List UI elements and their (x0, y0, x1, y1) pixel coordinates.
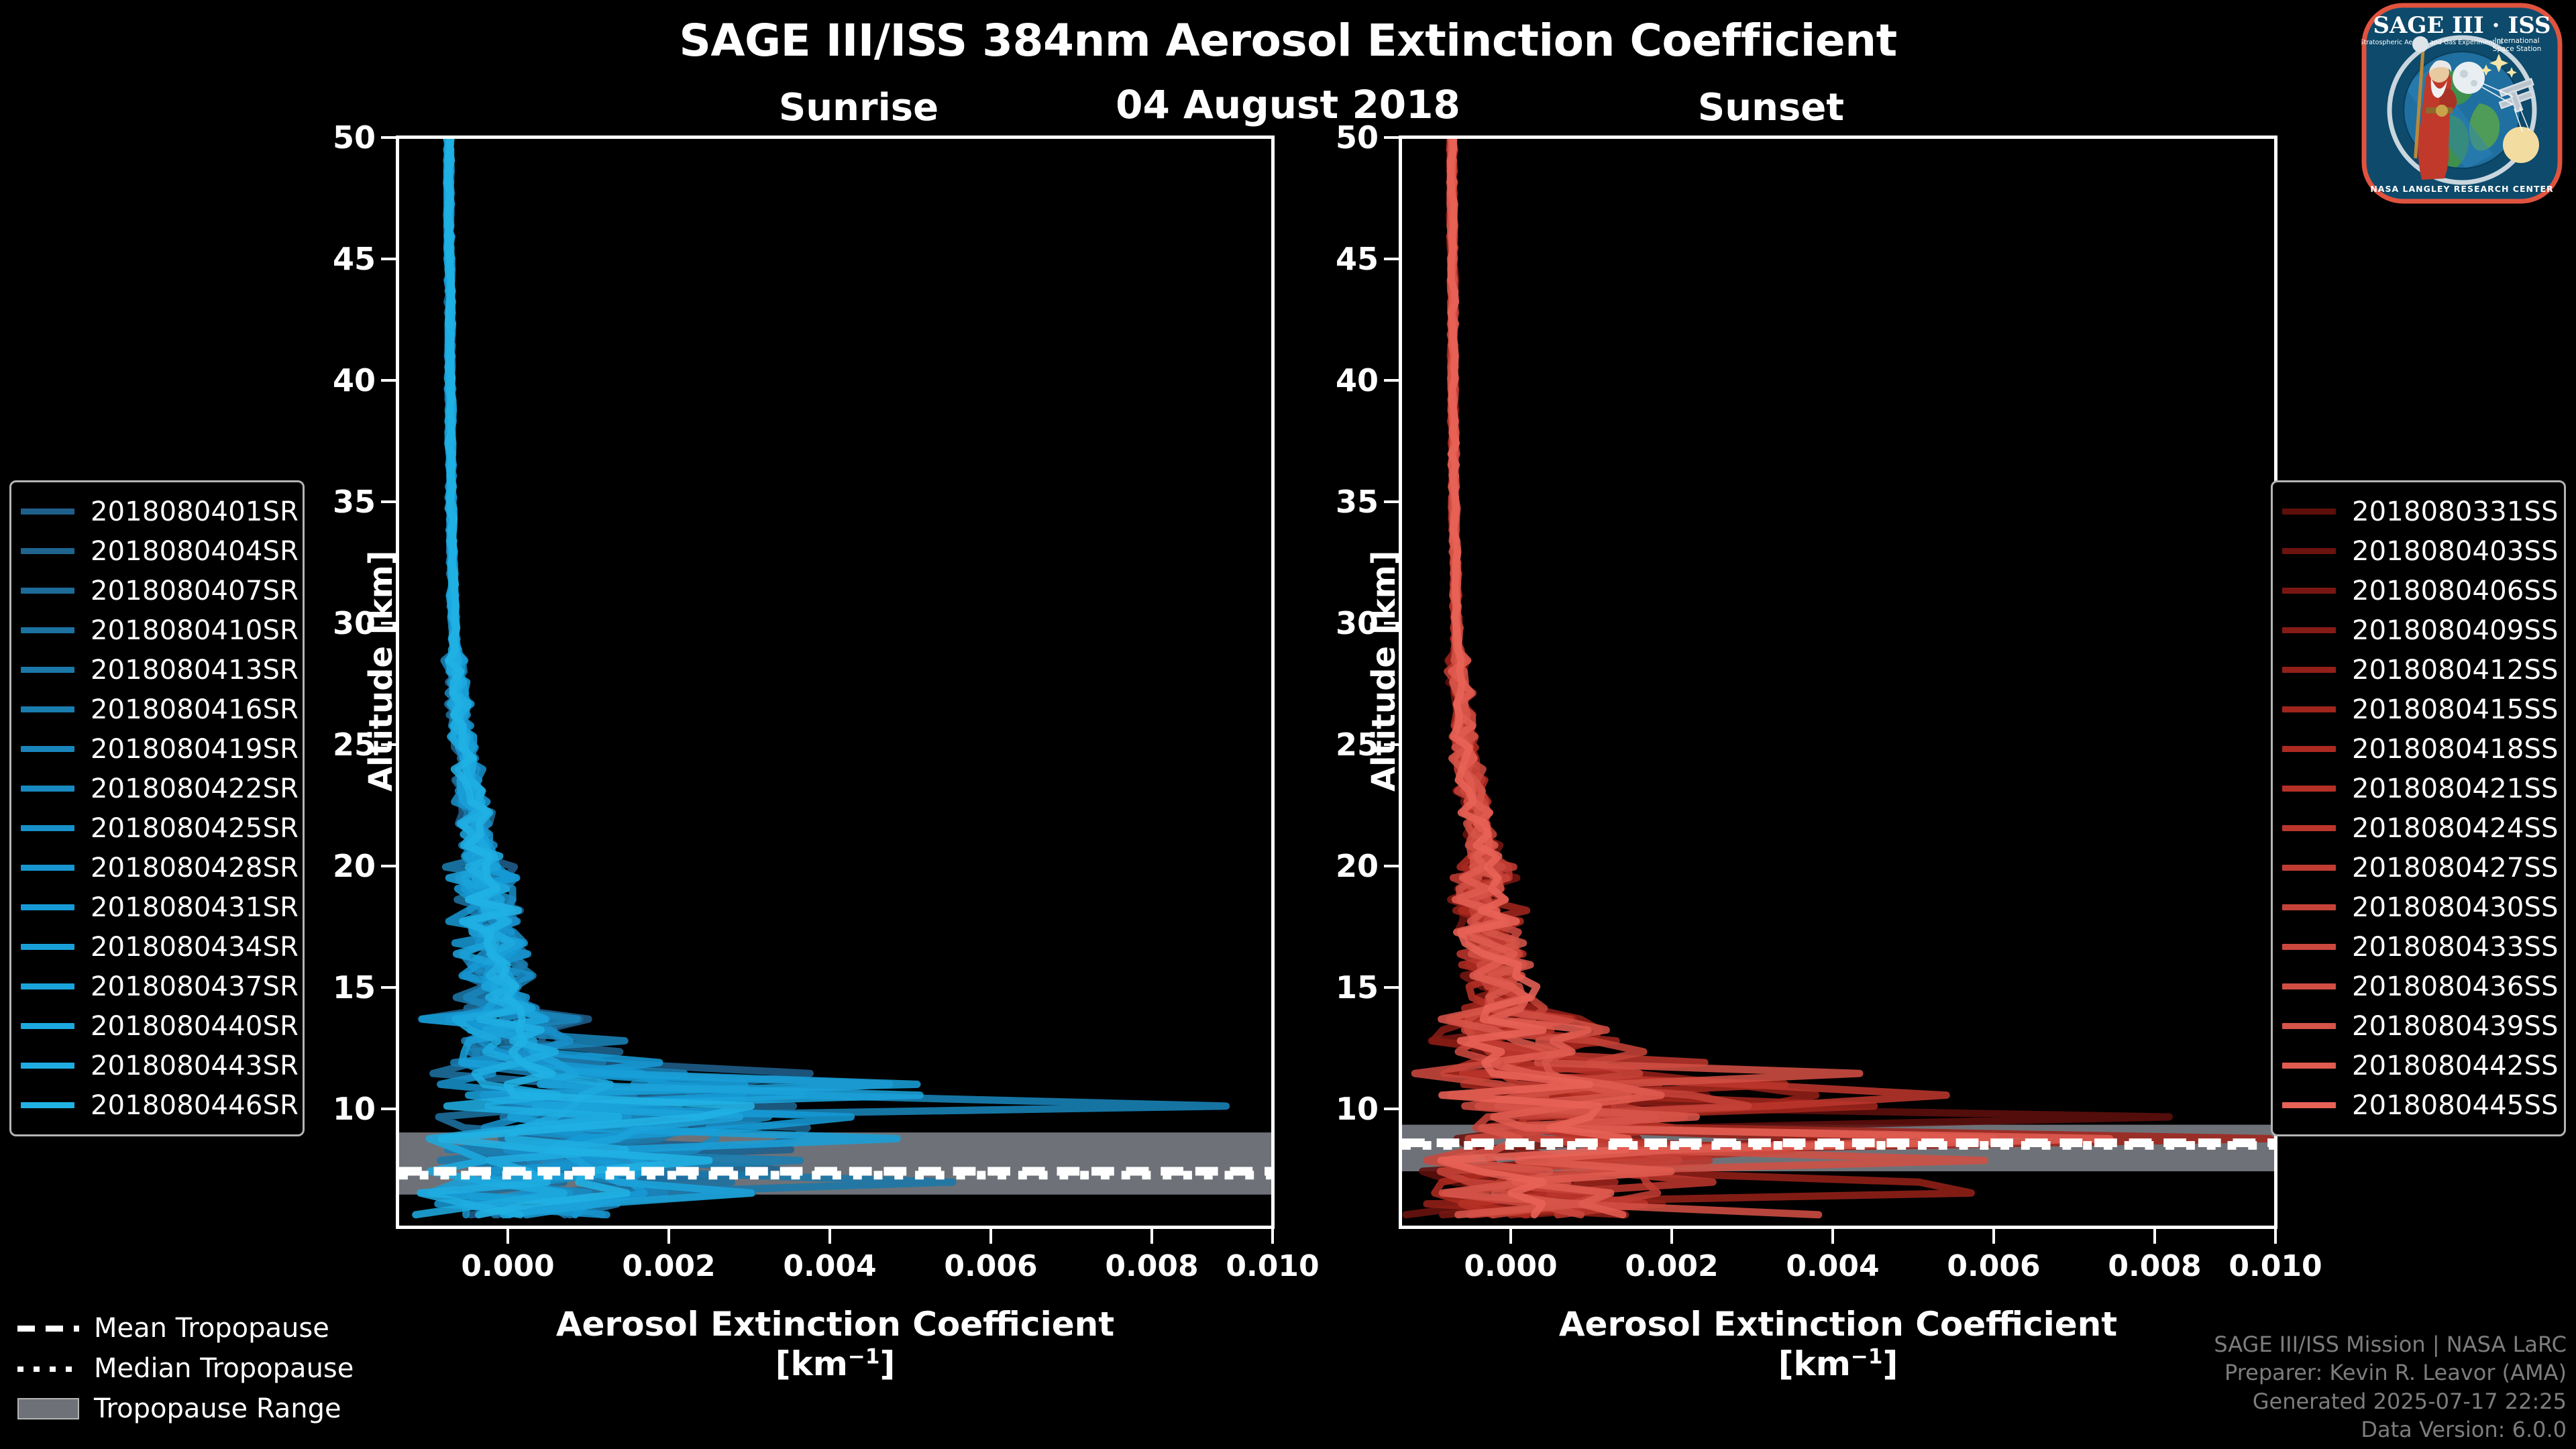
sunset-xaxis-title: Aerosol Extinction Coefficient [km−1] (1399, 1305, 2277, 1384)
sunrise-legend-color-swatch (21, 706, 74, 712)
sunrise-legend-label: 2018080413SR (91, 655, 299, 686)
sunset-legend-item[interactable]: 2018080331SS (2282, 492, 2553, 531)
sunrise-legend-color-swatch (21, 746, 74, 752)
sunset-legend-label: 2018080409SS (2352, 615, 2559, 646)
sunrise-legend-label: 2018080422SR (91, 773, 299, 804)
sunrise-xaxis-unit: [km−1] (396, 1344, 1275, 1384)
sage-iii-iss-logo-icon: SAGE III · ISS Stratospheric Aerosol and… (2361, 3, 2563, 204)
sunset-legend-label: 2018080331SS (2352, 496, 2559, 527)
sunrise-legend-item[interactable]: 2018080428SR (21, 848, 292, 888)
sunrise-legend-color-swatch (21, 865, 74, 871)
sunset-xtick-mark (1509, 1229, 1512, 1244)
sunset-legend-item[interactable]: 2018080409SS (2282, 610, 2553, 650)
sunset-xtick-mark (1831, 1229, 1834, 1244)
sunset-legend-color-swatch (2282, 588, 2336, 594)
logo-sun-icon (2503, 127, 2539, 163)
logo-iss-subtext-2: Space Station (2493, 45, 2542, 53)
sunrise-legend-item[interactable]: 2018080440SR (21, 1006, 292, 1046)
sunset-ytick-50: 50 (1291, 119, 1379, 156)
sunset-legend-color-swatch (2282, 508, 2336, 515)
sunset-ytick-mark (1384, 136, 1399, 139)
sunset-ytick-mark (1384, 865, 1399, 867)
sunrise-legend-color-swatch (21, 1063, 74, 1069)
sunrise-legend-color-swatch (21, 627, 74, 633)
sunrise-legend-label: 2018080431SR (91, 892, 299, 923)
sunrise-legend-item[interactable]: 2018080413SR (21, 650, 292, 690)
sunset-legend-item[interactable]: 2018080442SS (2282, 1046, 2553, 1085)
sunset-legend-color-swatch (2282, 1102, 2336, 1108)
sunrise-ytick-mark (381, 500, 396, 503)
logo-sage-subtext: Stratospheric Aerosol and Gas Experiment… (2361, 39, 2503, 46)
sunset-xtick-mark (1670, 1229, 1673, 1244)
sunset-legend-color-swatch (2282, 1063, 2336, 1069)
sunrise-legend-color-swatch (21, 904, 74, 910)
sunrise-ytick-40: 40 (288, 362, 376, 398)
sunrise-legend-color-swatch (21, 588, 74, 594)
sunset-legend-label: 2018080430SS (2352, 892, 2559, 923)
sunset-ytick-45: 45 (1291, 241, 1379, 277)
sunset-legend-item[interactable]: 2018080436SS (2282, 967, 2553, 1006)
sunset-legend-label: 2018080415SS (2352, 694, 2559, 725)
sunrise-legend-color-swatch (21, 983, 74, 989)
sunset-legend-color-swatch (2282, 786, 2336, 792)
sunrise-ytick-mark (381, 1108, 396, 1110)
sunrise-plot-svg (399, 139, 1271, 1226)
credits-line-mission: SAGE III/ISS Mission | NASA LaRC (2214, 1330, 2567, 1358)
sunrise-ytick-mark (381, 986, 396, 989)
sunset-legend-label: 2018080406SS (2352, 576, 2559, 606)
page-title: SAGE III/ISS 384nm Aerosol Extinction Co… (0, 15, 2576, 66)
sunrise-legend-item[interactable]: 2018080416SR (21, 690, 292, 729)
sunset-xtick-0006: 0.006 (1920, 1249, 2068, 1283)
sunset-legend-item[interactable]: 2018080421SS (2282, 769, 2553, 808)
sunset-ytick-40: 40 (1291, 362, 1379, 398)
sunset-ytick-mark (1384, 379, 1399, 382)
legend-row-mean-tropopause: Mean Tropopause (17, 1308, 354, 1348)
sunset-legend-label: 2018080439SS (2352, 1011, 2559, 1042)
sunrise-legend-label: 2018080428SR (91, 853, 299, 883)
sunrise-legend-label: 2018080407SR (91, 576, 299, 606)
sunrise-legend-item[interactable]: 2018080446SR (21, 1085, 292, 1125)
sunset-legend-color-swatch (2282, 746, 2336, 752)
sunset-legend-label: 2018080424SS (2352, 813, 2559, 844)
sunset-ytick-20: 20 (1291, 848, 1379, 884)
mean-tropopause-dash-icon (17, 1319, 79, 1338)
tropopause-range-patch-icon (17, 1398, 79, 1419)
sunset-legend-item[interactable]: 2018080418SS (2282, 729, 2553, 769)
sunrise-xtick-0002: 0.002 (595, 1249, 743, 1283)
date-subtitle: 04 August 2018 (0, 82, 2576, 127)
sunset-xtick-0002: 0.002 (1598, 1249, 1746, 1283)
sunrise-yaxis-title: Altitude [km] (362, 550, 400, 792)
sunrise-xtick-0006: 0.006 (917, 1249, 1065, 1283)
sunset-legend-color-swatch (2282, 825, 2336, 831)
sunrise-xtick-mark (828, 1229, 831, 1244)
mean-tropopause-label: Mean Tropopause (94, 1313, 329, 1344)
sunset-tropopause-marker-lines (1402, 1143, 2274, 1146)
sunset-xtick-mark (2274, 1229, 2277, 1244)
sunset-legend-color-swatch (2282, 548, 2336, 554)
sunrise-legend-label: 2018080425SR (91, 813, 299, 844)
sunrise-xaxis-title: Aerosol Extinction Coefficient [km−1] (396, 1305, 1275, 1384)
sunrise-legend-item[interactable]: 2018080443SR (21, 1046, 292, 1085)
sunset-legend-color-swatch (2282, 627, 2336, 633)
legend-row-median-tropopause: Median Tropopause (17, 1348, 354, 1389)
sunrise-legend-color-swatch (21, 1023, 74, 1029)
sunset-legend-label: 2018080403SS (2352, 536, 2559, 567)
sunrise-xtick-mark (1150, 1229, 1153, 1244)
sunrise-ytick-50: 50 (288, 119, 376, 156)
sunrise-xtick-0004: 0.004 (756, 1249, 904, 1283)
sunset-plot-svg (1402, 139, 2274, 1226)
sunset-plot-area[interactable] (1399, 136, 2277, 1229)
sunrise-legend-item[interactable]: 2018080407SR (21, 571, 292, 610)
credits-line-generated: Generated 2025-07-17 22:25 (2214, 1387, 2567, 1415)
sunset-event-legend[interactable]: 2018080331SS2018080403SS2018080406SS2018… (2271, 480, 2566, 1136)
logo-moon-icon (2453, 62, 2485, 94)
logo-title-text: SAGE III · ISS (2373, 12, 2551, 39)
sunrise-legend-color-swatch (21, 1102, 74, 1108)
sunrise-legend-item[interactable]: 2018080431SR (21, 888, 292, 927)
sunrise-tropopause-marker-lines (399, 1171, 1271, 1175)
sunrise-xtick-mark (1271, 1229, 1274, 1244)
sunrise-ytick-mark (381, 136, 396, 139)
sunset-legend-item[interactable]: 2018080433SS (2282, 927, 2553, 967)
sunset-ytick-10: 10 (1291, 1091, 1379, 1127)
sunrise-legend-label: 2018080416SR (91, 694, 299, 725)
sunset-legend-item[interactable]: 2018080415SS (2282, 690, 2553, 729)
sunrise-xtick-0010: 0.010 (1199, 1249, 1346, 1283)
sunrise-legend-label: 2018080437SR (91, 971, 299, 1002)
sunrise-xtick-mark (989, 1229, 992, 1244)
sunset-ytick-mark (1384, 500, 1399, 503)
sunset-legend-label: 2018080418SS (2352, 734, 2559, 765)
sunrise-ytick-45: 45 (288, 241, 376, 277)
sunset-legend-color-swatch (2282, 667, 2336, 673)
sunset-ytick-mark (1384, 1108, 1399, 1110)
sunset-legend-item[interactable]: 2018080424SS (2282, 808, 2553, 848)
sunrise-legend-label: 2018080401SR (91, 496, 299, 527)
sunrise-legend-label: 2018080404SR (91, 536, 299, 567)
sunrise-legend-color-swatch (21, 786, 74, 792)
median-tropopause-dot-icon (17, 1359, 79, 1378)
sunset-legend-color-swatch (2282, 706, 2336, 712)
sunrise-xtick-mark (667, 1229, 670, 1244)
sunrise-legend-color-swatch (21, 944, 74, 950)
sunrise-ytick-mark (381, 865, 396, 867)
sunset-legend-color-swatch (2282, 944, 2336, 950)
sunset-legend-color-swatch (2282, 1023, 2336, 1029)
sunset-xaxis-title-text: Aerosol Extinction Coefficient (1559, 1305, 2117, 1344)
logo-ring-text: NASA LANGLEY RESEARCH CENTER (2370, 184, 2553, 194)
sunset-legend-item[interactable]: 2018080412SS (2282, 650, 2553, 690)
sunset-panel-title: Sunset (1583, 86, 1959, 129)
sunset-xtick-0000: 0.000 (1437, 1249, 1585, 1283)
sunset-xaxis-unit: [km−1] (1399, 1344, 2277, 1384)
sunrise-legend-label: 2018080443SR (91, 1051, 299, 1081)
sunrise-legend-label: 2018080446SR (91, 1090, 299, 1121)
sunset-legend-item[interactable]: 2018080406SS (2282, 571, 2553, 610)
sunset-ytick-15: 15 (1291, 969, 1379, 1006)
sunrise-legend-color-swatch (21, 508, 74, 515)
sunrise-legend-label: 2018080440SR (91, 1011, 299, 1042)
legend-row-tropopause-range: Tropopause Range (17, 1389, 354, 1429)
sunset-xtick-0004: 0.004 (1759, 1249, 1907, 1283)
sunset-legend-item[interactable]: 2018080427SS (2282, 848, 2553, 888)
credits-line-version: Data Version: 6.0.0 (2214, 1415, 2567, 1444)
sunset-ytick-35: 35 (1291, 484, 1379, 520)
sunset-ytick-mark (1384, 258, 1399, 260)
sunrise-legend-label: 2018080434SR (91, 932, 299, 963)
tropopause-legend: Mean Tropopause Median Tropopause Tropop… (17, 1308, 354, 1429)
sunrise-legend-item[interactable]: 2018080425SR (21, 808, 292, 848)
sunrise-legend-item[interactable]: 2018080404SR (21, 531, 292, 571)
sunrise-ytick-mark (381, 379, 396, 382)
sunrise-xaxis-title-text: Aerosol Extinction Coefficient (556, 1305, 1114, 1344)
sunset-xtick-0010: 0.010 (2202, 1249, 2349, 1283)
sunrise-legend-item[interactable]: 2018080434SR (21, 927, 292, 967)
sunset-legend-label: 2018080433SS (2352, 932, 2559, 963)
sunset-xtick-mark (2153, 1229, 2156, 1244)
sunset-legend-item[interactable]: 2018080439SS (2282, 1006, 2553, 1046)
sunrise-legend-item[interactable]: 2018080401SR (21, 492, 292, 531)
sunrise-event-legend[interactable]: 2018080401SR2018080404SR2018080407SR2018… (9, 480, 305, 1136)
sunset-legend-color-swatch (2282, 865, 2336, 871)
median-tropopause-label: Median Tropopause (94, 1353, 354, 1384)
sunset-legend-label: 2018080445SS (2352, 1090, 2559, 1121)
sunrise-legend-item[interactable]: 2018080410SR (21, 610, 292, 650)
sunrise-legend-color-swatch (21, 667, 74, 673)
sunrise-plot-area[interactable] (396, 136, 1275, 1229)
sunset-ytick-mark (1384, 986, 1399, 989)
sunset-legend-label: 2018080421SS (2352, 773, 2559, 804)
logo-iss-subtext-1: International (2494, 37, 2539, 45)
sunset-xtick-mark (1992, 1229, 1995, 1244)
sunrise-legend-label: 2018080419SR (91, 734, 299, 765)
sunset-yaxis-title: Altitude [km] (1365, 550, 1403, 792)
sunset-legend-item[interactable]: 2018080430SS (2282, 888, 2553, 927)
sunrise-legend-item[interactable]: 2018080437SR (21, 967, 292, 1006)
sunrise-legend-color-swatch (21, 548, 74, 554)
sunrise-xtick-mark (506, 1229, 509, 1244)
sunrise-legend-item[interactable]: 2018080419SR (21, 729, 292, 769)
sunrise-xtick-0000: 0.000 (434, 1249, 582, 1283)
sunset-legend-label: 2018080412SS (2352, 655, 2559, 686)
credits-block: SAGE III/ISS Mission | NASA LaRC Prepare… (2214, 1330, 2567, 1444)
sunrise-legend-label: 2018080410SR (91, 615, 299, 646)
sunset-legend-label: 2018080442SS (2352, 1051, 2559, 1081)
sunset-legend-color-swatch (2282, 983, 2336, 989)
sunrise-ytick-mark (381, 258, 396, 260)
sunset-legend-label: 2018080436SS (2352, 971, 2559, 1002)
sunrise-legend-color-swatch (21, 825, 74, 831)
sunset-legend-item[interactable]: 2018080445SS (2282, 1085, 2553, 1125)
sunset-legend-color-swatch (2282, 904, 2336, 910)
sunset-legend-item[interactable]: 2018080403SS (2282, 531, 2553, 571)
sunrise-panel-title: Sunrise (671, 86, 1046, 129)
sunset-legend-label: 2018080427SS (2352, 853, 2559, 883)
tropopause-range-label: Tropopause Range (94, 1393, 341, 1424)
sunrise-legend-item[interactable]: 2018080422SR (21, 769, 292, 808)
credits-line-preparer: Preparer: Kevin R. Leavor (AMA) (2214, 1358, 2567, 1387)
